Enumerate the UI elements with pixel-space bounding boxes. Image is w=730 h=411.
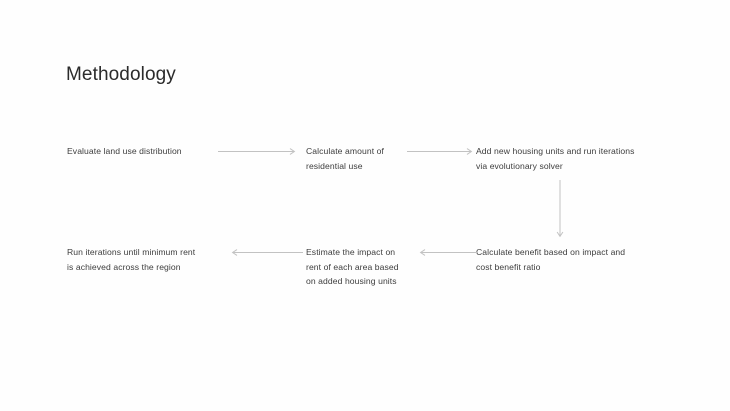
- arrow-right-icon-evaluate-to-calculate: [218, 145, 296, 158]
- flow-node-estimate-rent-impact: Estimate the impact on rent of each area…: [306, 245, 418, 289]
- flow-node-run-iterations-minimum-rent: Run iterations until minimum rent is ach…: [67, 245, 232, 274]
- arrow-down-icon-add-housing-to-benefit: [553, 180, 567, 238]
- flow-node-evaluate-land-use: Evaluate land use distribution: [67, 144, 217, 159]
- flow-node-calculate-residential-use: Calculate amount of residential use: [306, 144, 406, 173]
- arrow-left-icon-estimate-to-run-iterations: [231, 246, 303, 259]
- arrow-right-icon-calculate-to-add-housing: [407, 145, 473, 158]
- flow-node-calculate-benefit: Calculate benefit based on impact and co…: [476, 245, 661, 274]
- arrow-left-icon-benefit-to-estimate: [419, 246, 477, 259]
- page-title: Methodology: [66, 64, 176, 86]
- slide-canvas: Methodology Evaluate land use distributi…: [0, 0, 730, 411]
- flow-node-add-housing-units: Add new housing units and run iterations…: [476, 144, 671, 173]
